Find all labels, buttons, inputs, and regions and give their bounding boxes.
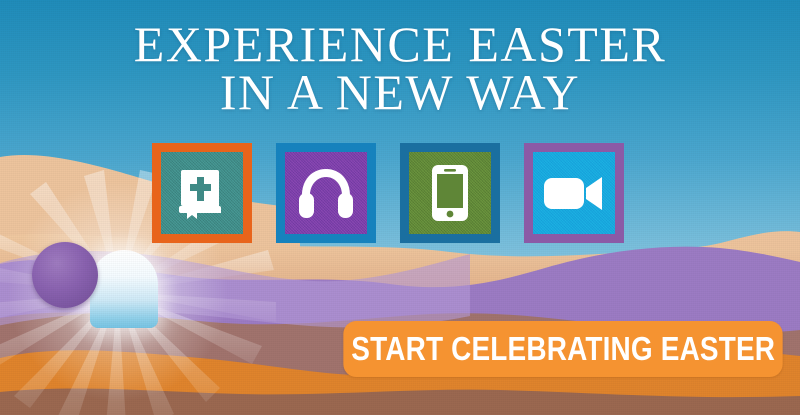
start-celebrating-easter-button[interactable]: START CELEBRATING EASTER bbox=[343, 321, 782, 377]
tile-audio[interactable] bbox=[276, 143, 376, 243]
tile-bible[interactable] bbox=[152, 143, 252, 243]
headline-line-1: EXPERIENCE EASTER bbox=[0, 20, 800, 68]
tomb-opening bbox=[90, 250, 158, 328]
tile-video[interactable] bbox=[524, 143, 624, 243]
easter-promo-banner: EXPERIENCE EASTER IN A NEW WAY bbox=[0, 0, 800, 415]
page-title: EXPERIENCE EASTER IN A NEW WAY bbox=[0, 20, 800, 116]
feature-tiles bbox=[152, 143, 624, 243]
tile-mobile[interactable] bbox=[400, 143, 500, 243]
bible-cross-icon bbox=[176, 166, 228, 220]
cta-label: START CELEBRATING EASTER bbox=[351, 330, 775, 368]
headphones-icon bbox=[297, 166, 355, 220]
headline-line-2: IN A NEW WAY bbox=[0, 68, 800, 116]
smartphone-icon bbox=[430, 164, 470, 222]
video-camera-icon bbox=[544, 173, 604, 213]
tomb-stone bbox=[32, 242, 98, 308]
